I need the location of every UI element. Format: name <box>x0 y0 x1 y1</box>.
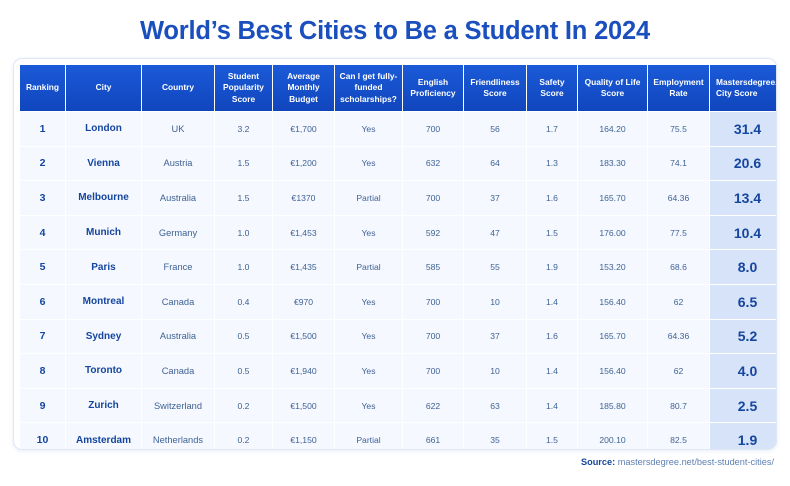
cell-ranking: 3 <box>20 181 65 215</box>
cell-friendliness-score: 64 <box>464 147 526 181</box>
cell-city-score: 2.5 <box>710 389 777 423</box>
cell-ranking: 9 <box>20 389 65 423</box>
cell-student-popularity-score: 0.5 <box>215 320 272 354</box>
cell-country: Austria <box>142 147 214 181</box>
cell-employment-rate: 64.36 <box>648 320 709 354</box>
cell-friendliness-score: 47 <box>464 216 526 250</box>
cell-employment-rate: 62 <box>648 354 709 388</box>
cell-student-popularity-score: 0.5 <box>215 354 272 388</box>
page-title: World’s Best Cities to Be a Student In 2… <box>0 0 790 46</box>
table-row: 8TorontoCanada0.5€1,940Yes700101.4156.40… <box>20 354 777 388</box>
cell-city-score: 8.0 <box>710 250 777 284</box>
cell-student-popularity-score: 1.5 <box>215 147 272 181</box>
cell-country: Canada <box>142 285 214 319</box>
cell-scholarships: Yes <box>335 216 402 250</box>
cell-city-score: 31.4 <box>710 112 777 146</box>
table-row: 7SydneyAustralia0.5€1,500Yes700371.6165.… <box>20 320 777 354</box>
cell-english-proficiency: 632 <box>403 147 463 181</box>
cell-average-monthly-budget: €1,200 <box>273 147 334 181</box>
cell-friendliness-score: 37 <box>464 181 526 215</box>
table-row: 1LondonUK3.2€1,700Yes700561.7164.2075.53… <box>20 112 777 146</box>
cell-employment-rate: 75.5 <box>648 112 709 146</box>
cell-city: Munich <box>66 216 141 250</box>
table-row: 3MelbourneAustralia1.5€1370Partial700371… <box>20 181 777 215</box>
cell-average-monthly-budget: €1370 <box>273 181 334 215</box>
cell-country: Netherlands <box>142 423 214 450</box>
cell-scholarships: Yes <box>335 389 402 423</box>
cell-ranking: 4 <box>20 216 65 250</box>
cell-country: Australia <box>142 320 214 354</box>
cell-country: Germany <box>142 216 214 250</box>
cell-friendliness-score: 55 <box>464 250 526 284</box>
column-header-quality-of-life-score[interactable]: Quality of Life Score <box>578 65 647 111</box>
cell-ranking: 7 <box>20 320 65 354</box>
cell-quality-of-life-score: 153.20 <box>578 250 647 284</box>
source-line: Source: mastersdegree.net/best-student-c… <box>581 457 774 467</box>
cell-scholarships: Yes <box>335 320 402 354</box>
cell-friendliness-score: 56 <box>464 112 526 146</box>
cell-english-proficiency: 700 <box>403 354 463 388</box>
cell-city: Zurich <box>66 389 141 423</box>
cell-ranking: 5 <box>20 250 65 284</box>
source-label: Source: <box>581 457 615 467</box>
cell-quality-of-life-score: 185.80 <box>578 389 647 423</box>
cell-scholarships: Yes <box>335 285 402 319</box>
column-header-english-proficiency[interactable]: English Proficiency <box>403 65 463 111</box>
ranking-table-card: Ranking City Country Student Popularity … <box>13 58 777 450</box>
cell-employment-rate: 64.36 <box>648 181 709 215</box>
cell-country: Switzerland <box>142 389 214 423</box>
cell-ranking: 2 <box>20 147 65 181</box>
cell-employment-rate: 68.6 <box>648 250 709 284</box>
cell-city-score: 10.4 <box>710 216 777 250</box>
table-row: 10AmsterdamNetherlands0.2€1,150Partial66… <box>20 423 777 450</box>
column-header-student-popularity-score[interactable]: Student Popularity Score <box>215 65 272 111</box>
cell-friendliness-score: 10 <box>464 354 526 388</box>
cell-city: Paris <box>66 250 141 284</box>
cell-quality-of-life-score: 176.00 <box>578 216 647 250</box>
table-row: 9ZurichSwitzerland0.2€1,500Yes622631.418… <box>20 389 777 423</box>
column-header-employment-rate[interactable]: Employment Rate <box>648 65 709 111</box>
cell-safety-score: 1.4 <box>527 354 577 388</box>
cell-ranking: 8 <box>20 354 65 388</box>
cell-scholarships: Partial <box>335 181 402 215</box>
cell-scholarships: Yes <box>335 354 402 388</box>
cell-employment-rate: 62 <box>648 285 709 319</box>
cell-city-score: 4.0 <box>710 354 777 388</box>
cell-city-score: 1.9 <box>710 423 777 450</box>
column-header-city-score[interactable]: Mastersdegree.net City Score <box>710 65 777 111</box>
cell-english-proficiency: 592 <box>403 216 463 250</box>
table-row: 6MontrealCanada0.4€970Yes700101.4156.406… <box>20 285 777 319</box>
cell-ranking: 1 <box>20 112 65 146</box>
cell-friendliness-score: 35 <box>464 423 526 450</box>
cell-average-monthly-budget: €1,500 <box>273 320 334 354</box>
table-row: 4MunichGermany1.0€1,453Yes592471.5176.00… <box>20 216 777 250</box>
cell-quality-of-life-score: 156.40 <box>578 354 647 388</box>
cell-city: London <box>66 112 141 146</box>
table-body: 1LondonUK3.2€1,700Yes700561.7164.2075.53… <box>20 112 777 450</box>
cell-safety-score: 1.4 <box>527 389 577 423</box>
cell-quality-of-life-score: 200.10 <box>578 423 647 450</box>
cell-english-proficiency: 700 <box>403 181 463 215</box>
cell-city: Montreal <box>66 285 141 319</box>
cell-scholarships: Yes <box>335 147 402 181</box>
column-header-ranking[interactable]: Ranking <box>20 65 65 111</box>
cell-average-monthly-budget: €1,940 <box>273 354 334 388</box>
cell-safety-score: 1.6 <box>527 320 577 354</box>
infographic-page: World’s Best Cities to Be a Student In 2… <box>0 0 790 486</box>
cell-employment-rate: 80.7 <box>648 389 709 423</box>
source-value[interactable]: mastersdegree.net/best-student-cities/ <box>618 457 774 467</box>
cell-city-score: 5.2 <box>710 320 777 354</box>
ranking-table: Ranking City Country Student Popularity … <box>19 64 777 450</box>
cell-city: Toronto <box>66 354 141 388</box>
column-header-average-monthly-budget[interactable]: Average Monthly Budget <box>273 65 334 111</box>
cell-average-monthly-budget: €1,435 <box>273 250 334 284</box>
cell-scholarships: Yes <box>335 112 402 146</box>
cell-city-score: 6.5 <box>710 285 777 319</box>
cell-safety-score: 1.3 <box>527 147 577 181</box>
cell-safety-score: 1.7 <box>527 112 577 146</box>
column-header-city[interactable]: City <box>66 65 141 111</box>
cell-average-monthly-budget: €1,700 <box>273 112 334 146</box>
cell-friendliness-score: 63 <box>464 389 526 423</box>
cell-average-monthly-budget: €970 <box>273 285 334 319</box>
column-header-friendliness-score[interactable]: Friendliness Score <box>464 65 526 111</box>
cell-english-proficiency: 700 <box>403 285 463 319</box>
cell-average-monthly-budget: €1,500 <box>273 389 334 423</box>
cell-country: France <box>142 250 214 284</box>
cell-city: Sydney <box>66 320 141 354</box>
cell-student-popularity-score: 1.0 <box>215 216 272 250</box>
cell-safety-score: 1.9 <box>527 250 577 284</box>
cell-quality-of-life-score: 156.40 <box>578 285 647 319</box>
cell-english-proficiency: 622 <box>403 389 463 423</box>
cell-employment-rate: 74.1 <box>648 147 709 181</box>
cell-student-popularity-score: 0.2 <box>215 389 272 423</box>
table-row: 5ParisFrance1.0€1,435Partial585551.9153.… <box>20 250 777 284</box>
cell-english-proficiency: 661 <box>403 423 463 450</box>
cell-safety-score: 1.5 <box>527 423 577 450</box>
table-header: Ranking City Country Student Popularity … <box>20 65 777 111</box>
cell-average-monthly-budget: €1,150 <box>273 423 334 450</box>
cell-city-score: 13.4 <box>710 181 777 215</box>
cell-quality-of-life-score: 183.30 <box>578 147 647 181</box>
cell-scholarships: Partial <box>335 423 402 450</box>
column-header-country[interactable]: Country <box>142 65 214 111</box>
cell-city: Melbourne <box>66 181 141 215</box>
cell-quality-of-life-score: 165.70 <box>578 181 647 215</box>
cell-student-popularity-score: 0.4 <box>215 285 272 319</box>
cell-student-popularity-score: 0.2 <box>215 423 272 450</box>
cell-english-proficiency: 700 <box>403 112 463 146</box>
cell-safety-score: 1.6 <box>527 181 577 215</box>
cell-average-monthly-budget: €1,453 <box>273 216 334 250</box>
cell-friendliness-score: 37 <box>464 320 526 354</box>
cell-ranking: 10 <box>20 423 65 450</box>
cell-employment-rate: 77.5 <box>648 216 709 250</box>
cell-ranking: 6 <box>20 285 65 319</box>
cell-safety-score: 1.5 <box>527 216 577 250</box>
table-header-row: Ranking City Country Student Popularity … <box>20 65 777 111</box>
cell-english-proficiency: 700 <box>403 320 463 354</box>
cell-city: Amsterdam <box>66 423 141 450</box>
table-row: 2ViennaAustria1.5€1,200Yes632641.3183.30… <box>20 147 777 181</box>
cell-country: Australia <box>142 181 214 215</box>
column-header-safety-score[interactable]: Safety Score <box>527 65 577 111</box>
cell-quality-of-life-score: 165.70 <box>578 320 647 354</box>
cell-scholarships: Partial <box>335 250 402 284</box>
cell-employment-rate: 82.5 <box>648 423 709 450</box>
cell-student-popularity-score: 3.2 <box>215 112 272 146</box>
cell-country: Canada <box>142 354 214 388</box>
cell-student-popularity-score: 1.0 <box>215 250 272 284</box>
cell-city-score: 20.6 <box>710 147 777 181</box>
cell-safety-score: 1.4 <box>527 285 577 319</box>
cell-student-popularity-score: 1.5 <box>215 181 272 215</box>
cell-friendliness-score: 10 <box>464 285 526 319</box>
cell-city: Vienna <box>66 147 141 181</box>
column-header-scholarships[interactable]: Can I get fully-funded scholarships? <box>335 65 402 111</box>
cell-quality-of-life-score: 164.20 <box>578 112 647 146</box>
cell-country: UK <box>142 112 214 146</box>
cell-english-proficiency: 585 <box>403 250 463 284</box>
